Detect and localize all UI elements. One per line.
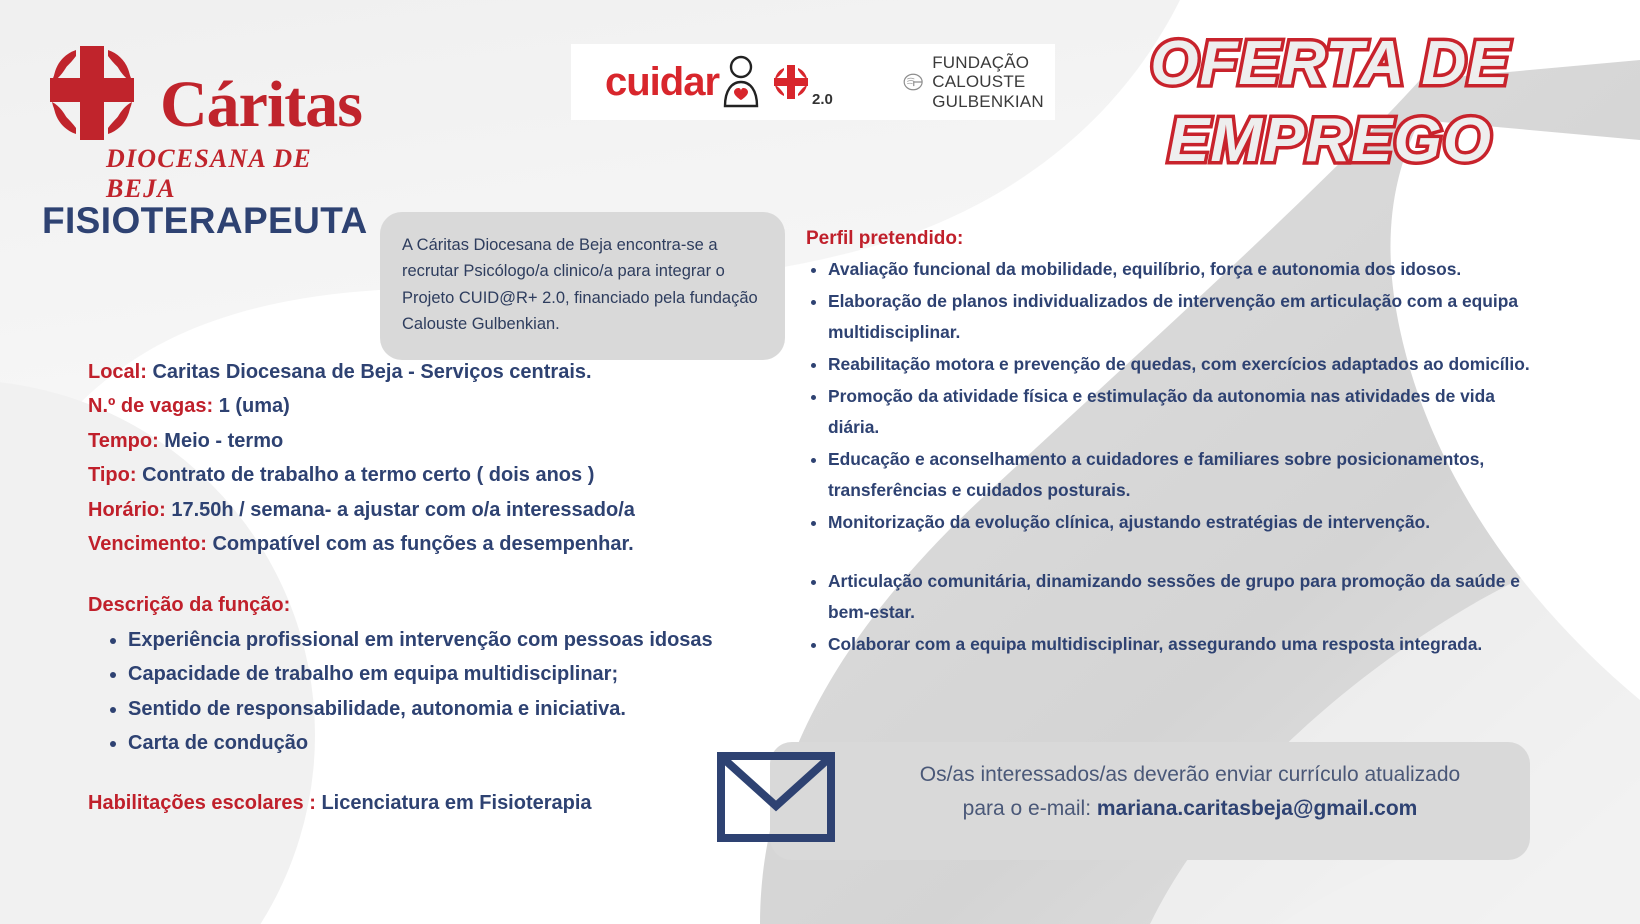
gulbenkian-line2: CALOUSTE GULBENKIAN [932, 72, 1057, 110]
envelope-icon [717, 752, 835, 842]
detail-key-5: Vencimento: [88, 533, 207, 555]
offer-title-line1: OFERTA DE [1050, 32, 1610, 95]
education-key: Habilitações escolares : [88, 792, 316, 814]
description-item: Experiência profissional em intervenção … [128, 623, 848, 657]
detail-value-0: Caritas Diocesana de Beja - Serviços cen… [147, 361, 592, 383]
caritas-wordmark: Cáritas [160, 72, 362, 138]
detail-value-5: Compatível com as funções a desempenhar. [207, 533, 634, 555]
description-heading: Descrição da função: [88, 594, 848, 617]
description-item: Sentido de responsabilidade, autonomia e… [128, 692, 848, 726]
profile-item: Reabilitação motora e prevenção de queda… [828, 349, 1546, 380]
partner-logos-panel: cuidar 2.0 [571, 44, 1055, 120]
detail-row-4: Horário: 17.50h / semana- a ajustar com … [88, 493, 788, 527]
cuidar-version-label: 2.0 [812, 91, 833, 108]
contact-email[interactable]: mariana.caritasbeja@gmail.com [1097, 797, 1417, 820]
description-list: Experiência profissional em intervenção … [128, 623, 848, 761]
profile-item: Educação e aconselhamento a cuidadores e… [828, 444, 1546, 506]
profile-list: Avaliação funcional da mobilidade, equil… [828, 254, 1546, 660]
detail-key-1: N.º de vagas: [88, 395, 213, 417]
job-position-title: FISIOTERAPEUTA [42, 200, 368, 242]
gulbenkian-line1: FUNDAÇÃO [932, 53, 1057, 72]
detail-value-3: Contrato de trabalho a termo certo ( doi… [137, 464, 595, 486]
contact-text: Os/as interessados/as deverão enviar cur… [860, 758, 1520, 826]
job-details-list: Local: Caritas Diocesana de Beja - Servi… [88, 355, 788, 561]
description-section: Descrição da função: Experiência profiss… [88, 594, 848, 761]
caritas-cross-icon [38, 38, 148, 148]
job-intro-bubble: A Cáritas Diocesana de Beja encontra-se … [380, 212, 785, 360]
detail-row-3: Tipo: Contrato de trabalho a termo certo… [88, 458, 788, 492]
profile-section: Perfil pretendido: Avaliação funcional d… [806, 228, 1546, 661]
cuidar-logo: cuidar 2.0 [605, 54, 833, 110]
detail-value-1: 1 (uma) [213, 395, 290, 417]
offer-title: OFERTA DE EMPREGO [1050, 32, 1610, 172]
education-row: Habilitações escolares : Licenciatura em… [88, 792, 592, 815]
detail-key-0: Local: [88, 361, 147, 383]
detail-value-4: 17.50h / semana- a ajustar com o/a inter… [166, 499, 635, 521]
detail-key-4: Horário: [88, 499, 166, 521]
gulbenkian-emblem-icon [903, 66, 923, 98]
profile-item: Articulação comunitária, dinamizando ses… [828, 566, 1546, 628]
profile-list-spacer [828, 539, 1546, 565]
caritas-subtitle: DIOCESANA DE BEJA [106, 144, 358, 204]
detail-row-2: Tempo: Meio - termo [88, 424, 788, 458]
description-item: Capacidade de trabalho em equipa multidi… [128, 657, 848, 691]
detail-row-1: N.º de vagas: 1 (uma) [88, 389, 788, 423]
profile-heading: Perfil pretendido: [806, 228, 1546, 250]
caritas-logo: Cáritas DIOCESANA DE BEJA [38, 38, 358, 168]
cuidar-cross-icon [771, 62, 811, 102]
detail-row-0: Local: Caritas Diocesana de Beja - Servi… [88, 355, 788, 389]
contact-line1: Os/as interessados/as deverão enviar cur… [920, 763, 1460, 786]
education-value: Licenciatura em Fisioterapia [316, 792, 592, 814]
profile-item: Promoção da atividade física e estimulaç… [828, 381, 1546, 443]
cuidar-person-heart-icon [719, 54, 773, 110]
profile-item: Monitorização da evolução clínica, ajust… [828, 507, 1546, 538]
detail-value-2: Meio - termo [159, 430, 283, 452]
profile-item: Elaboração de planos individualizados de… [828, 286, 1546, 348]
gulbenkian-text: FUNDAÇÃO CALOUSTE GULBENKIAN [932, 53, 1057, 110]
offer-title-line2: EMPREGO [1050, 109, 1610, 172]
detail-key-2: Tempo: [88, 430, 159, 452]
gulbenkian-logo: FUNDAÇÃO CALOUSTE GULBENKIAN [903, 53, 1058, 110]
detail-key-3: Tipo: [88, 464, 137, 486]
profile-item: Colaborar com a equipa multidisciplinar,… [828, 629, 1546, 660]
profile-item: Avaliação funcional da mobilidade, equil… [828, 254, 1546, 285]
detail-row-5: Vencimento: Compatível com as funções a … [88, 527, 788, 561]
contact-line2-prefix: para o e-mail: [963, 797, 1097, 820]
cuidar-wordmark: cuidar [605, 60, 719, 105]
